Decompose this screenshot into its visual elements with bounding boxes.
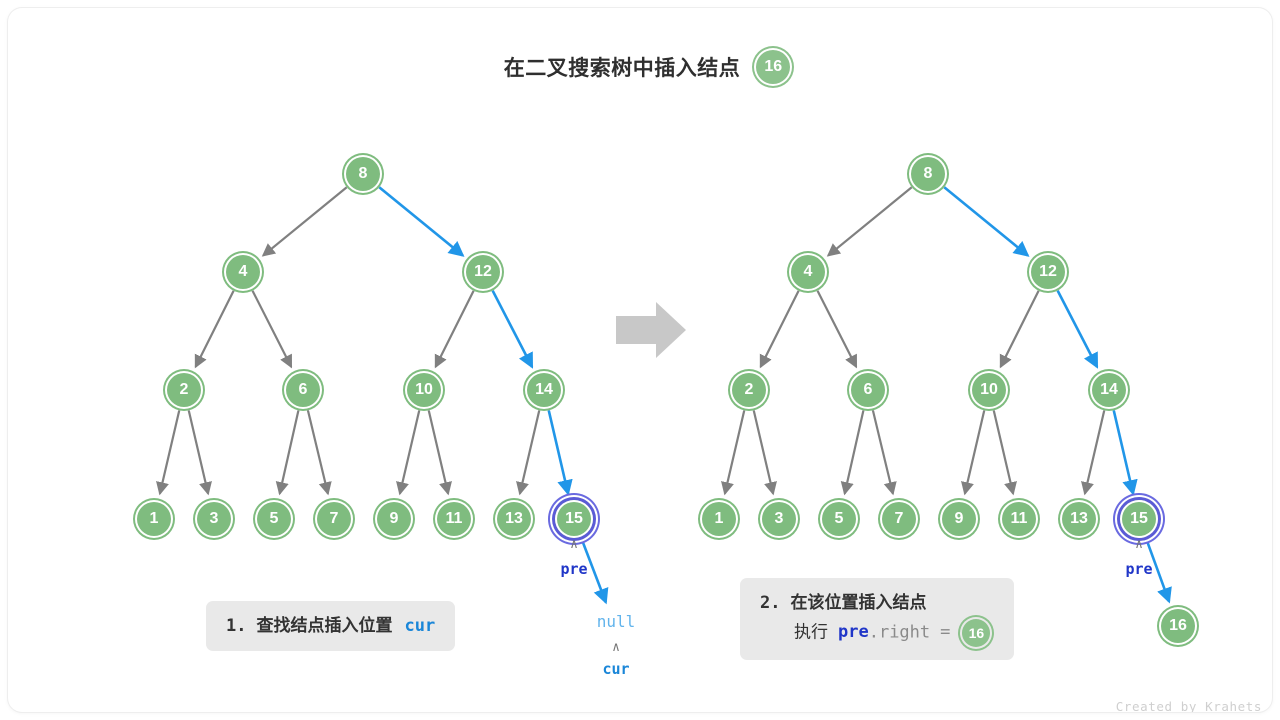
tree-edge-L4-L6 [253, 291, 292, 367]
tree-edge-L14-L15 [549, 410, 568, 493]
tree-edge-R4-R2 [761, 291, 799, 367]
tree-node-3[interactable]: 3 [195, 500, 233, 538]
tree-edge-L6-L5 [280, 410, 299, 493]
edge-layer [8, 8, 1272, 712]
tree-node-3[interactable]: 3 [760, 500, 798, 538]
left-pre-label: pre [560, 560, 587, 578]
tree-node-7[interactable]: 7 [880, 500, 918, 538]
tree-node-4[interactable]: 4 [224, 253, 262, 291]
tree-edge-R8-R4 [828, 187, 912, 255]
tree-node-15[interactable]: 15 [555, 500, 593, 538]
tree-node-12[interactable]: 12 [464, 253, 502, 291]
tree-node-8[interactable]: 8 [909, 155, 947, 193]
transition-arrow-layer [8, 8, 1272, 712]
step2-var-pre: pre [838, 622, 869, 642]
tree-node-5[interactable]: 5 [255, 500, 293, 538]
step2-line1: 在该位置插入结点 [790, 593, 926, 612]
tree-node-13[interactable]: 13 [1060, 500, 1098, 538]
tree-node-5[interactable]: 5 [820, 500, 858, 538]
step1-var: cur [404, 616, 435, 636]
tree-node-2[interactable]: 2 [730, 371, 768, 409]
right-pre-label: pre [1125, 560, 1152, 578]
step2-box: 2.在该位置插入结点 执行pre.right=16 [740, 578, 1014, 660]
page-title: 在二叉搜索树中插入结点16 [8, 48, 1272, 86]
tree-node-7[interactable]: 7 [315, 500, 353, 538]
diagram-card: 在二叉搜索树中插入结点16 84122610141357911131584122… [8, 8, 1272, 712]
tree-node-1[interactable]: 1 [135, 500, 173, 538]
tree-node-9[interactable]: 9 [940, 500, 978, 538]
step1-box: 1.查找结点插入位置cur [206, 601, 455, 651]
tree-node-8[interactable]: 8 [344, 155, 382, 193]
tree-node-14[interactable]: 14 [525, 371, 563, 409]
step2-equals: = [940, 622, 950, 642]
tree-edge-L8-L12 [379, 187, 463, 255]
title-node-chip: 16 [754, 48, 792, 86]
footer-credit: Created by Krahets [1116, 699, 1262, 712]
diagram-stage: 在二叉搜索树中插入结点16 84122610141357911131584122… [8, 8, 1272, 712]
step2-prop: .right [869, 622, 930, 642]
tree-edge-R12-R10 [1001, 291, 1039, 367]
step2-exec-word: 执行 [794, 622, 828, 641]
step1-text: 查找结点插入位置 [256, 616, 392, 635]
tree-node-11[interactable]: 11 [435, 500, 473, 538]
tree-node-14[interactable]: 14 [1090, 371, 1128, 409]
tree-edge-L10-L9 [400, 410, 419, 493]
tree-edge-R10-R9 [965, 410, 984, 493]
tree-edge-L10-L11 [429, 410, 448, 493]
tree-edge-R14-R15 [1114, 410, 1133, 493]
tree-edge-R4-R6 [818, 291, 857, 367]
tree-edge-L6-L7 [308, 410, 328, 493]
tree-edge-R6-R7 [873, 410, 893, 493]
tree-node-11[interactable]: 11 [1000, 500, 1038, 538]
tree-edge-R10-R11 [994, 410, 1013, 493]
tree-node-9[interactable]: 9 [375, 500, 413, 538]
tree-edge-R2-R1 [725, 410, 744, 493]
tree-node-6[interactable]: 6 [284, 371, 322, 409]
tree-node-16[interactable]: 16 [1159, 607, 1197, 645]
title-text: 在二叉搜索树中插入结点 [504, 57, 741, 80]
left-null-label: null [597, 612, 636, 631]
tree-edge-L12-L14 [493, 291, 532, 367]
tree-edge-R2-R3 [754, 410, 773, 493]
tree-node-2[interactable]: 2 [165, 371, 203, 409]
tree-node-12[interactable]: 12 [1029, 253, 1067, 291]
tree-node-6[interactable]: 6 [849, 371, 887, 409]
tree-node-15[interactable]: 15 [1120, 500, 1158, 538]
tree-edge-R12-R14 [1058, 291, 1097, 367]
tree-node-1[interactable]: 1 [700, 500, 738, 538]
right-pre-caret: ∧ [1135, 537, 1143, 552]
step2-node-chip: 16 [960, 617, 992, 649]
tree-node-10[interactable]: 10 [970, 371, 1008, 409]
tree-edge-L4-L2 [196, 291, 234, 367]
left-cur-caret: ∧ [612, 640, 620, 655]
tree-edge-L2-L1 [160, 410, 179, 493]
tree-edge-R14-R13 [1085, 410, 1104, 493]
tree-node-13[interactable]: 13 [495, 500, 533, 538]
tree-edge-L12-L10 [436, 291, 474, 367]
tree-node-10[interactable]: 10 [405, 371, 443, 409]
step1-index: 1. [226, 616, 246, 636]
tree-edge-L8-L4 [263, 187, 347, 255]
step2-index: 2. [760, 593, 780, 613]
tree-edge-R6-R5 [845, 410, 864, 493]
left-cur-label: cur [602, 660, 629, 678]
tree-edge-L14-L13 [520, 410, 539, 493]
tree-node-4[interactable]: 4 [789, 253, 827, 291]
tree-edge-L2-L3 [189, 410, 208, 493]
transition-arrow-icon [616, 302, 686, 358]
left-pre-caret: ∧ [570, 537, 578, 552]
tree-edge-R8-R12 [944, 187, 1028, 255]
